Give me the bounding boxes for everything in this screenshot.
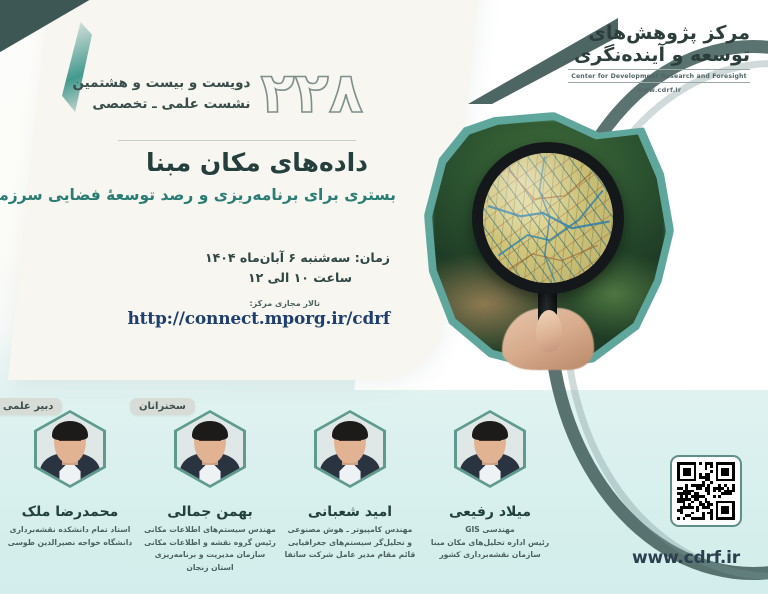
person-card-speaker-1: سخنرانان بهمن جمالی مهندس سیستم‌های اطلا… bbox=[140, 404, 280, 574]
organization-logo[interactable]: مرکز پژوهش‌های توسعه و آینده‌نگری Center… bbox=[568, 22, 750, 94]
session-label-line2: نشست علمی ـ تخصصی bbox=[73, 94, 251, 115]
session-label-line1: دویست و بیست و هشتمین bbox=[73, 73, 251, 94]
event-date: زمان: سه‌شنبه ۶ آبان‌ماه ۱۴۰۴ bbox=[128, 248, 391, 269]
title-divider bbox=[118, 140, 356, 141]
logo-title-line1: مرکز پژوهش‌های bbox=[568, 22, 750, 44]
virtual-hall-label: تالار مجازی مرکز: bbox=[128, 299, 321, 308]
affiliation-line: مهندس کامپیوتر ـ هوش مصنوعی bbox=[284, 524, 416, 537]
qr-code[interactable] bbox=[670, 455, 742, 527]
person-card-scientific-secretary: دبیر علمی محمدرضا ملک استاد تمام دانشکده… bbox=[0, 404, 140, 574]
lens-glare bbox=[483, 153, 613, 283]
footer-website[interactable]: www.cdrf.ir bbox=[632, 548, 740, 568]
affiliation-line: و تحلیل‌گر سیستم‌های جغرافیایی bbox=[284, 537, 416, 550]
thumb bbox=[536, 310, 562, 352]
avatar bbox=[174, 410, 246, 488]
event-details: زمان: سه‌شنبه ۶ آبان‌ماه ۱۴۰۴ ساعت ۱۰ ال… bbox=[128, 248, 391, 329]
event-poster: مرکز پژوهش‌های توسعه و آینده‌نگری Center… bbox=[0, 0, 768, 594]
virtual-hall-url[interactable]: http://connect.mporg.ir/cdrf bbox=[128, 309, 391, 329]
avatar bbox=[454, 410, 526, 488]
poster-subtitle: بستری برای برنامه‌ریزی و رصد توسعهٔ فضای… bbox=[0, 186, 396, 204]
session-number: ۲۲۸ bbox=[260, 66, 363, 122]
hero-magnifier-image bbox=[424, 112, 674, 370]
affiliation-line: سازمان نقشه‌برداری کشور bbox=[424, 549, 556, 562]
affiliation-line: مهندسی GIS bbox=[424, 524, 556, 537]
person-name: بهمن جمالی bbox=[140, 504, 280, 520]
person-affiliation: استاد تمام دانشکده نقشه‌برداری دانشگاه خ… bbox=[0, 524, 140, 549]
affiliation-line: قائم مقام مدیر عامل شرکت ساتفا bbox=[284, 549, 416, 562]
logo-title-line2: توسعه و آینده‌نگری bbox=[568, 44, 750, 66]
logo-english-name: Center for Development Research and Fore… bbox=[568, 73, 750, 80]
person-affiliation: مهندس کامپیوتر ـ هوش مصنوعی و تحلیل‌گر س… bbox=[280, 524, 420, 562]
logo-divider-second bbox=[568, 82, 750, 83]
session-number-block: ۲۲۸ دویست و بیست و هشتمین نشست علمی ـ تخ… bbox=[73, 66, 363, 122]
qr-code-matrix bbox=[677, 462, 735, 520]
person-affiliation: مهندس سیستم‌های اطلاعات مکانی رئیس گروه … bbox=[140, 524, 280, 574]
person-card-speaker-3: میلاد رفیعی مهندسی GIS رئیس اداره تحلیل‌… bbox=[420, 404, 560, 574]
person-card-speaker-2: امید شعبانی مهندس کامپیوتر ـ هوش مصنوعی … bbox=[280, 404, 420, 574]
poster-title: داده‌های مکان مبنا bbox=[146, 148, 368, 177]
affiliation-line: استاد تمام دانشکده نقشه‌برداری bbox=[4, 524, 136, 537]
person-name: امید شعبانی bbox=[280, 504, 420, 520]
person-affiliation: مهندسی GIS رئیس اداره تحلیل‌های مکان مبن… bbox=[420, 524, 560, 562]
event-time: ساعت ۱۰ الی ۱۲ bbox=[128, 269, 353, 288]
affiliation-line: مهندس سیستم‌های اطلاعات مکانی bbox=[144, 524, 276, 537]
avatar bbox=[314, 410, 386, 488]
affiliation-line: رئیس گروه نقشه و اطلاعات مکانی bbox=[144, 537, 276, 550]
session-label: دویست و بیست و هشتمین نشست علمی ـ تخصصی bbox=[73, 73, 251, 115]
person-name: محمدرضا ملک bbox=[0, 504, 140, 520]
logo-divider bbox=[568, 69, 750, 70]
logo-website[interactable]: www.cdrf.ir bbox=[568, 86, 750, 94]
person-name: میلاد رفیعی bbox=[420, 504, 560, 520]
avatar bbox=[34, 410, 106, 488]
affiliation-line: دانشگاه خواجه نصیرالدین طوسی bbox=[4, 537, 136, 550]
affiliation-line: رئیس اداره تحلیل‌های مکان مبنا bbox=[424, 537, 556, 550]
magnifier-lens bbox=[472, 142, 624, 294]
affiliation-line: سازمان مدیریت و برنامه‌ریزی استان زنجان bbox=[144, 549, 276, 574]
